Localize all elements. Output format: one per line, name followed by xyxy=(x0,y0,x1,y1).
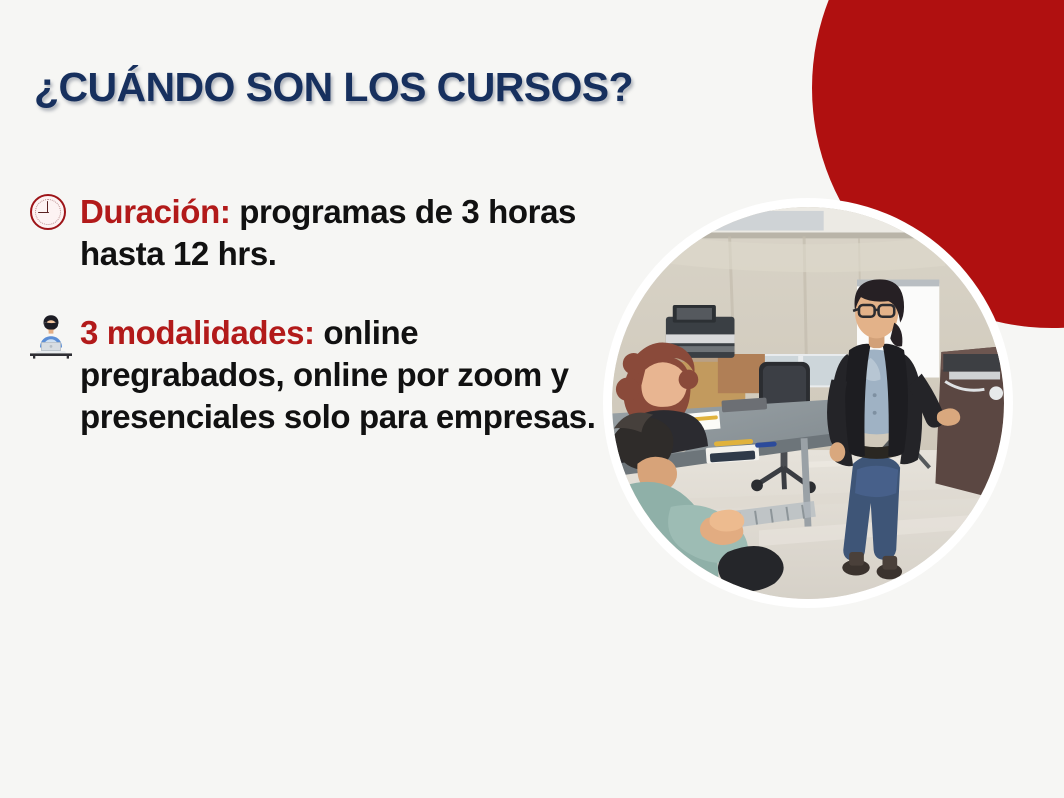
classroom-photo-illustration xyxy=(612,207,1004,599)
list-item: Duración: programas de 3 horas hasta 12 … xyxy=(22,190,597,275)
training-photo xyxy=(603,198,1013,608)
slide-canvas: ¿CUÁNDO SON LOS CURSOS? Duración: progra… xyxy=(0,0,1064,798)
clock-icon xyxy=(22,190,80,238)
bullet-list: Duración: programas de 3 horas hasta 12 … xyxy=(22,190,597,438)
list-item: 3 modalidades: online pregrabados, onlin… xyxy=(22,311,597,438)
person-at-laptop-icon xyxy=(22,311,80,359)
list-item-lead: Duración: xyxy=(80,193,230,230)
list-item-text: Duración: programas de 3 horas hasta 12 … xyxy=(80,190,597,275)
list-item-text: 3 modalidades: online pregrabados, onlin… xyxy=(80,311,597,438)
page-title: ¿CUÁNDO SON LOS CURSOS? xyxy=(34,64,633,111)
list-item-lead: 3 modalidades: xyxy=(80,314,315,351)
